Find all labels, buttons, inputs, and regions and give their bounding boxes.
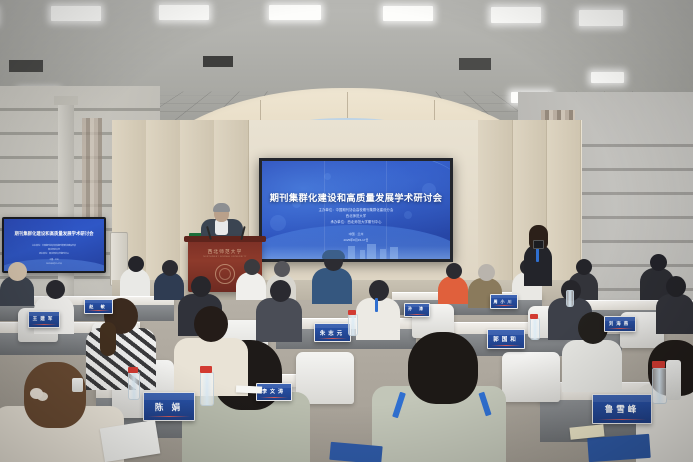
bottle-icon [348,314,358,336]
audience-head [650,254,667,271]
bottle-icon [128,372,140,400]
audience-cap [322,250,345,259]
left-pillar-cap [54,96,78,105]
placard-name-text: 郭国和 [488,335,524,343]
audience-head [8,262,27,281]
placard-name-text: 王建军 [29,316,59,322]
audience-person [154,272,184,300]
audience-head [666,276,686,297]
name-placard: 鲁雪峰 [592,394,652,424]
placard-accent-line [407,314,427,315]
placard-accent-line [493,305,515,306]
light-panel-icon [269,5,321,20]
podium-institution: 西北师范大学 [188,249,262,255]
audience-person [120,268,150,296]
placard-header-band [593,395,651,402]
screen-host-line-2: 西北师范大学 [262,214,450,219]
university-seal-icon [215,264,235,284]
thermos-icon [666,360,681,400]
audience-head [128,256,144,272]
bottle-cap [200,366,212,373]
chair [502,352,560,402]
name-placard: 王建军 [28,311,60,328]
lanyard [375,298,378,312]
audience-head [274,261,290,277]
light-panel-icon [383,6,433,21]
name-placard: 朱志元 [314,323,351,342]
light-panel-icon [579,10,623,26]
name-placard: 陈 娟 [143,392,195,421]
paper-document [236,385,262,393]
screen-host-line-1: 主办单位：中国期刊协会高校期刊集群化建设分会 [262,208,450,213]
placard-accent-line [260,397,289,398]
audience-head [478,264,495,281]
side-monitor-host-line-3: 承办单位：西北师范大学期刊中心 [4,253,104,256]
placard-name-text: 陈 娟 [144,401,194,413]
hair-clip-icon [30,388,43,399]
conference-hall-photo: 期刊集群化建设和高质量发展学术研讨会 主办单位：中国期刊协会高校期刊集群化建设分… [0,0,693,462]
bottle-icon [652,368,667,404]
audience-head [369,280,389,301]
conference-booklet [587,434,651,462]
placard-name-text: 刘海燕 [605,321,635,327]
camera-icon [533,240,544,249]
screen-date: 2025年8月15-17日 [262,238,450,243]
screen-host-line-3: 承办单位：西北师范大学期刊中心 [262,220,450,225]
audience-head [194,306,228,342]
audience-person [656,294,693,334]
light-panel-icon [591,72,624,83]
foreground-head [408,332,478,404]
name-placard: 孙 涛 [404,303,430,317]
placard-accent-line [491,345,521,346]
bottle-cap [348,310,356,315]
name-placard: 赵 敏 [84,299,113,314]
placard-name-text: 朱志元 [315,329,350,337]
speaker-hair [213,203,230,212]
audience-person [356,298,400,340]
bottle-icon [566,290,574,307]
podium-institution-latin: NORTHWEST NORMAL UNIVERSITY [188,256,262,258]
audience-head [162,260,178,276]
placard-name-text: 李文涛 [257,388,291,395]
light-panel-icon [491,7,541,23]
screen-location: 中国 · 兰州 [262,232,450,237]
placard-name-text: 赵 敏 [85,304,112,310]
side-monitor-host-line-1: 主办单位：中国期刊协会高校期刊集群化建设分会 [4,245,104,248]
ceiling-vent [203,56,233,67]
audience-person [312,268,352,304]
cup-icon [72,378,83,392]
podium-top [184,236,266,242]
placard-accent-line [148,416,190,417]
bottle-cap [128,367,138,373]
placard-accent-line [87,310,110,311]
audience-head [446,263,462,279]
audience-head [270,280,291,302]
ceiling-vent [459,58,491,70]
placard-name-text: 孙 涛 [405,307,429,312]
audience-person [86,328,156,390]
audience-person [256,298,302,342]
audience-head [191,276,211,297]
screen-title: 期刊集群化建设和高质量发展学术研讨会 [262,190,450,204]
audience-person [236,272,266,300]
conference-booklet [329,442,382,462]
placard-header-band [315,324,350,328]
side-monitor-title: 期刊集群化建设和高质量发展学术研讨会 [4,231,104,237]
bottle-cap [530,314,538,319]
audience-person [438,276,468,304]
name-placard: 郭国和 [487,329,525,349]
placard-accent-line [607,328,632,329]
side-monitor-host-line-2: 西北师范大学 [4,249,104,252]
placard-name-text: 周小川 [491,299,517,305]
ceiling-vent [9,60,43,72]
bottle-cap [652,361,665,368]
audience-head [46,280,65,299]
audience-head [576,259,592,275]
placard-header-band [488,330,524,335]
light-panel-icon [159,5,209,20]
light-panel-icon [51,6,101,21]
audience-person [562,340,622,392]
placard-accent-line [31,324,56,325]
placard-header-band [144,393,194,400]
main-projection-screen[interactable]: 期刊集群化建设和高质量发展学术研讨会 主办单位：中国期刊协会高校期刊集群化建设分… [259,158,453,262]
audience-head [244,259,260,275]
bottle-icon [530,318,540,340]
name-placard: 周小川 [490,294,518,309]
placard-name-text: 鲁雪峰 [593,403,651,415]
placard-accent-line [318,338,347,339]
name-placard: 刘海燕 [604,316,636,332]
ponytail [100,322,116,356]
placard-accent-line [598,419,647,420]
bottle-icon [200,372,214,406]
screen-icon: 期刊集群化建设和高质量发展学术研讨会 主办单位：中国期刊协会高校期刊集群化建设分… [262,161,450,259]
